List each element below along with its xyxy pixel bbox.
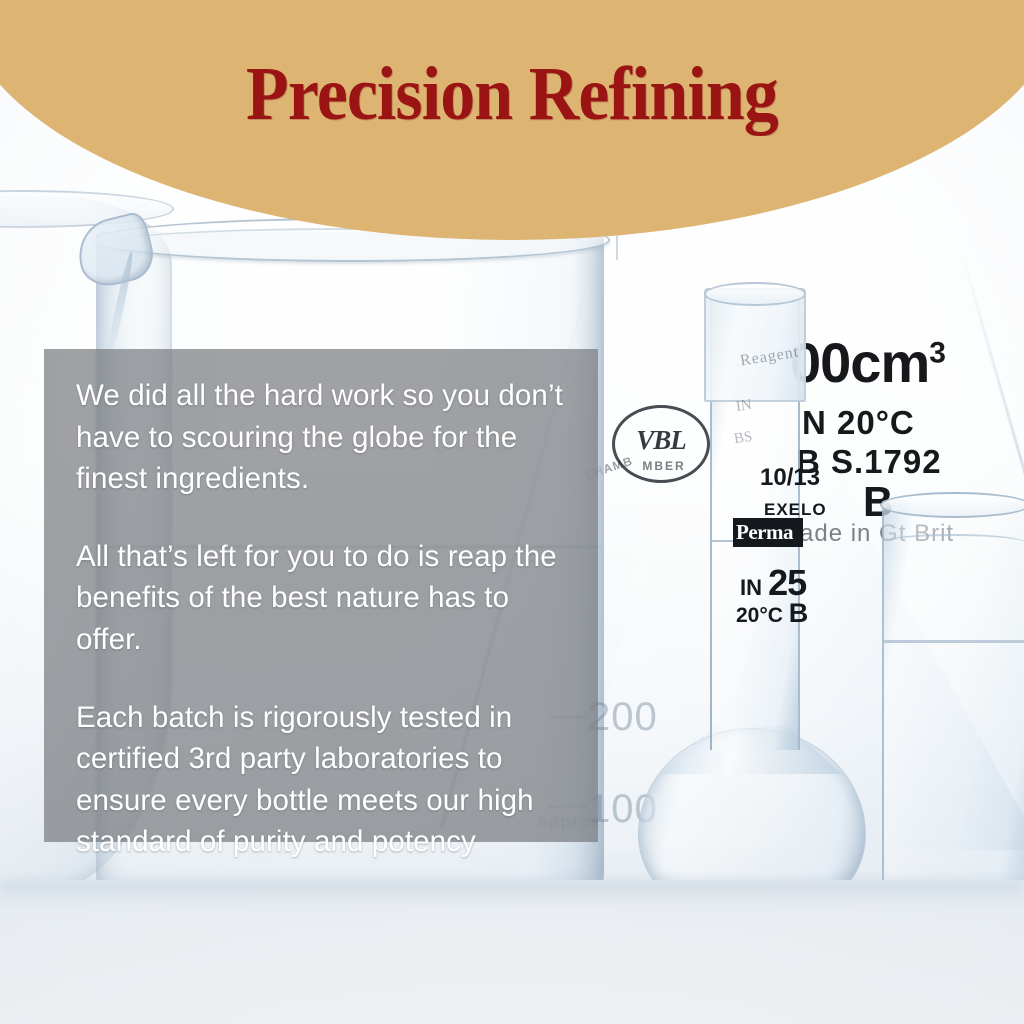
volumetric-flask-calibration-line (712, 540, 794, 542)
copy-paragraph-3: Each batch is rigorously tested in certi… (76, 697, 568, 863)
volumetric-flask-faint-text-low: BS (733, 429, 754, 448)
copy-spacer-2 (76, 661, 568, 697)
glass-jar-rim-inner (880, 534, 1024, 552)
volumetric-flask-mouth (704, 282, 806, 306)
poster-canvas: 00cm3 N 20°C B S.1792 B ade in Gt Brit V… (0, 0, 1024, 1024)
maker-stamp-brand: VBL (612, 425, 710, 456)
copy-overlay-panel: We did all the hard work so you don’t ha… (44, 349, 598, 842)
bench-surface (0, 880, 1024, 1024)
volumetric-flask-faint-text-mid: IN (735, 397, 753, 416)
glass-jar-liquid-line (884, 640, 1024, 643)
copy-spacer-1 (76, 500, 568, 536)
copy-paragraph-1: We did all the hard work so you don’t ha… (76, 375, 568, 500)
glass-jar (882, 500, 1024, 918)
copy-paragraph-2: All that’s left for you to do is reap th… (76, 536, 568, 661)
page-title: Precision Refining (3, 56, 1020, 132)
glass-jar-rim (880, 492, 1024, 518)
maker-stamp: VBL MBER CHAMB (612, 405, 710, 483)
